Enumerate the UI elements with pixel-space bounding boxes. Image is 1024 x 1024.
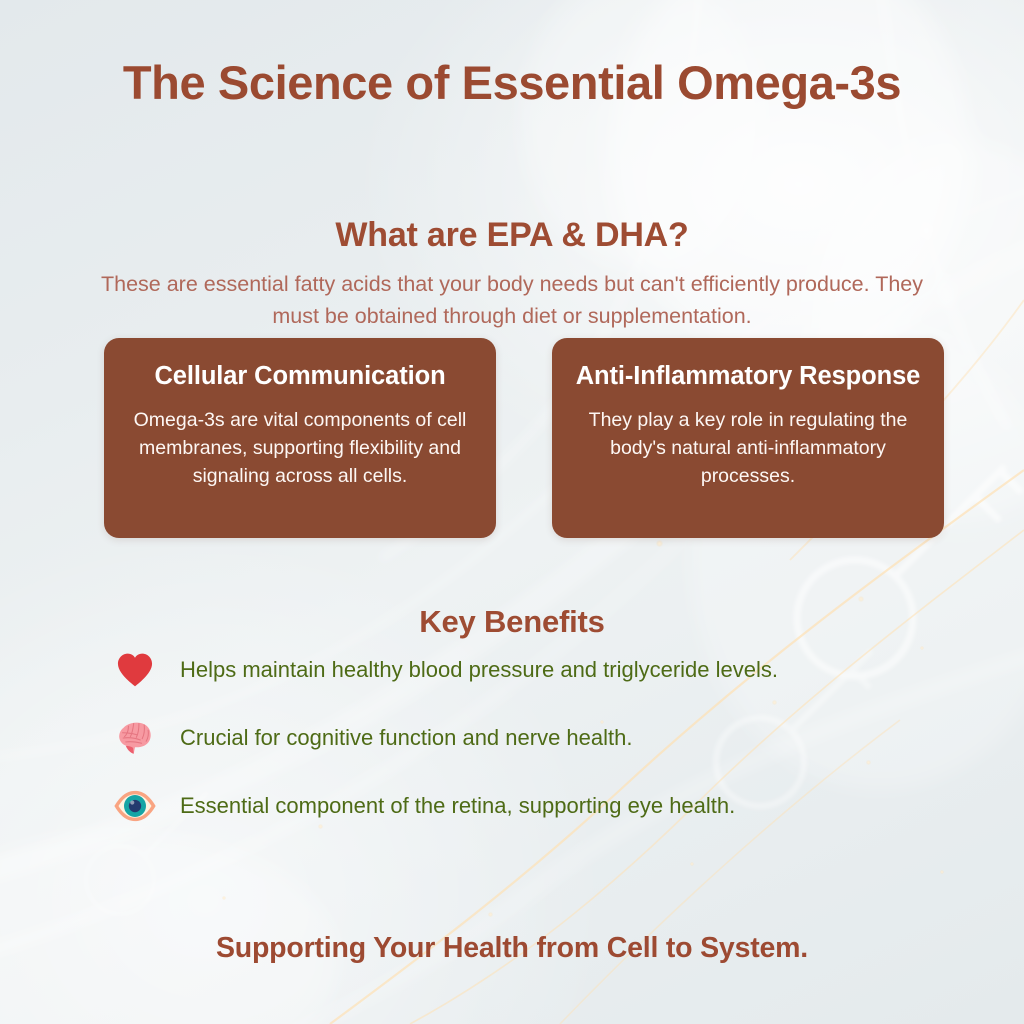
brain-icon <box>112 715 158 761</box>
eye-icon <box>112 783 158 829</box>
card-body: Omega-3s are vital components of cell me… <box>122 407 478 491</box>
page-title: The Science of Essential Omega-3s <box>0 53 1024 112</box>
intro-paragraph: These are essential fatty acids that you… <box>0 268 1024 333</box>
list-item: Essential component of the retina, suppo… <box>112 772 942 840</box>
benefit-text: Helps maintain healthy blood pressure an… <box>180 656 778 685</box>
benefit-cards: Cellular Communication Omega-3s are vita… <box>104 338 944 538</box>
section-heading-key-benefits: Key Benefits <box>0 604 1024 640</box>
card-body: They play a key role in regulating the b… <box>570 407 926 491</box>
infographic-poster: The Science of Essential Omega-3s What a… <box>0 0 1024 1024</box>
benefit-text: Essential component of the retina, suppo… <box>180 792 735 821</box>
benefit-text: Crucial for cognitive function and nerve… <box>180 724 632 753</box>
card-cellular-communication: Cellular Communication Omega-3s are vita… <box>104 338 496 538</box>
list-item: Helps maintain healthy blood pressure an… <box>112 636 942 704</box>
heart-icon <box>112 647 158 693</box>
section-heading-epa-dha: What are EPA & DHA? <box>0 216 1024 255</box>
list-item: Crucial for cognitive function and nerve… <box>112 704 942 772</box>
footer-tagline: Supporting Your Health from Cell to Syst… <box>0 932 1024 965</box>
poster-content: The Science of Essential Omega-3s What a… <box>0 0 1024 1024</box>
card-title: Cellular Communication <box>122 360 478 394</box>
key-benefits-list: Helps maintain healthy blood pressure an… <box>112 636 942 840</box>
card-title: Anti-Inflammatory Response <box>570 360 926 394</box>
card-anti-inflammatory-response: Anti-Inflammatory Response They play a k… <box>552 338 944 538</box>
